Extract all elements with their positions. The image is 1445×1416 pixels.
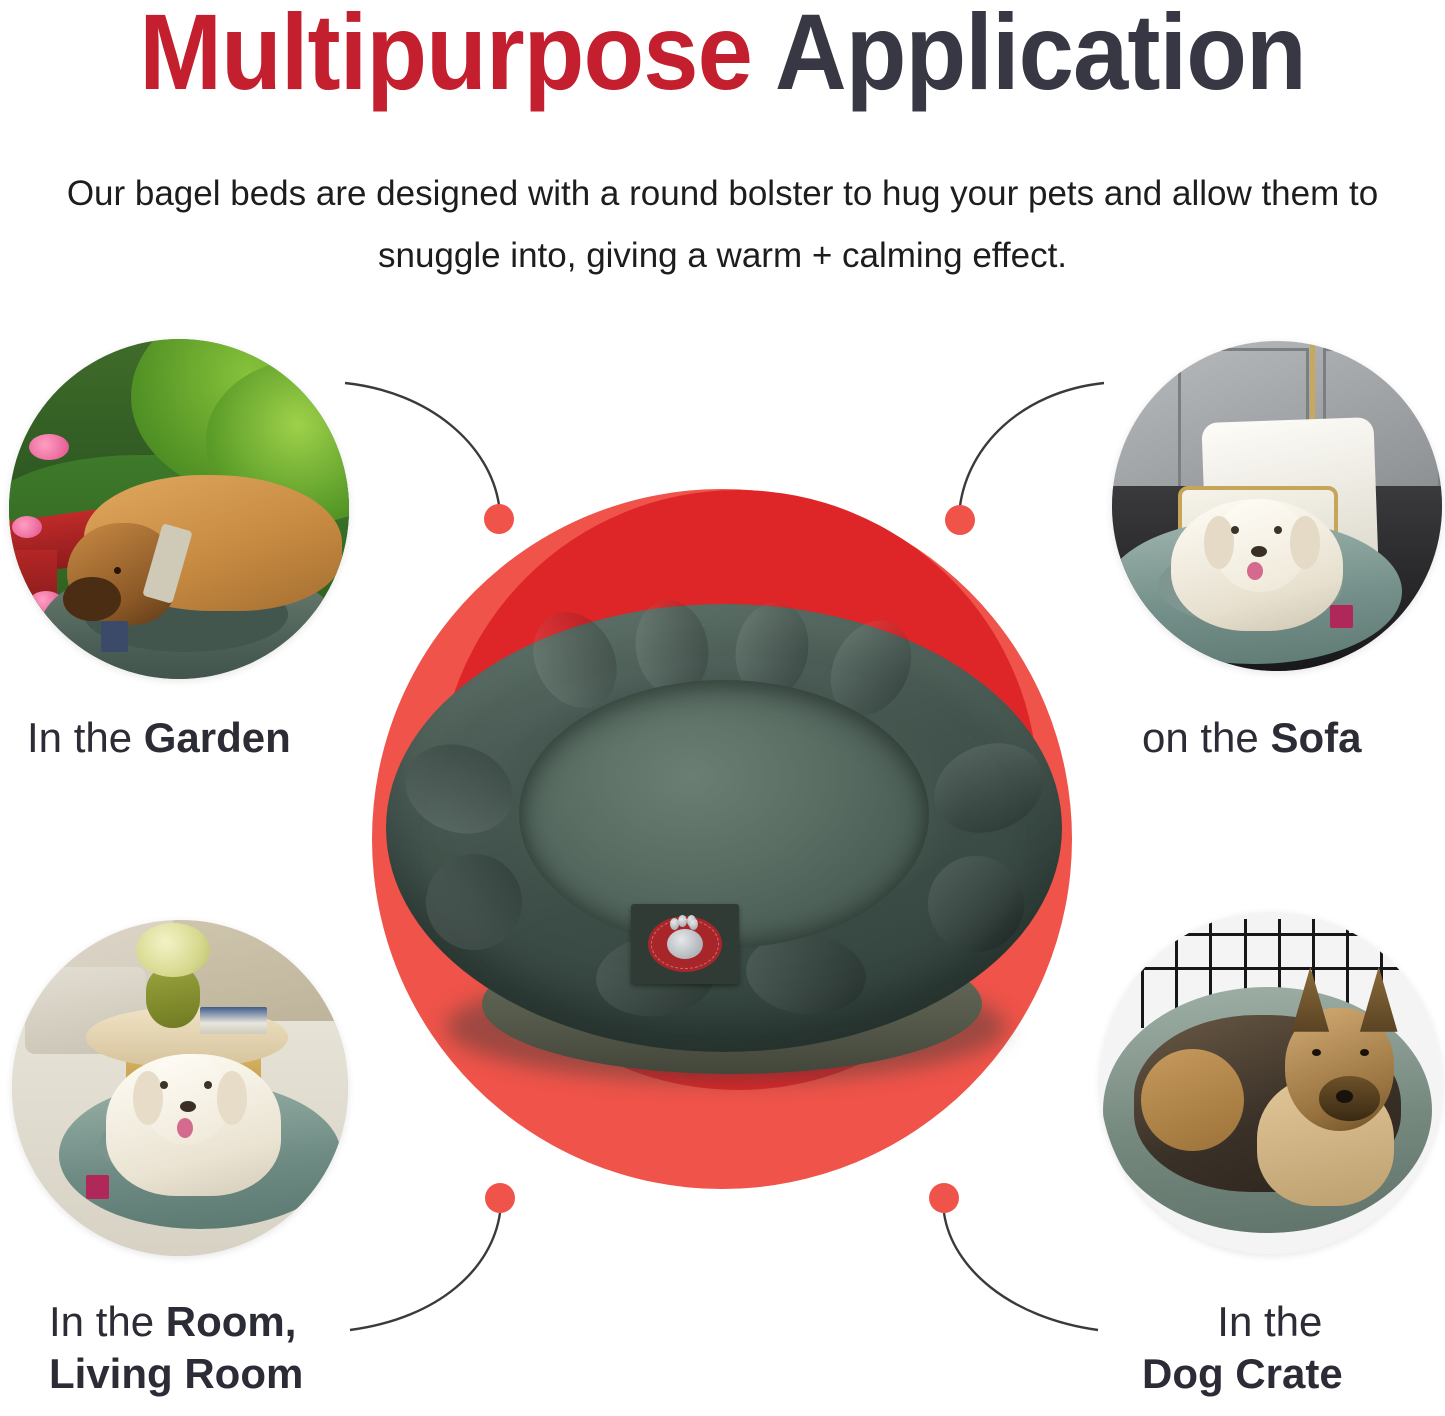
photo-thumbnail-dog-crate[interactable] xyxy=(1100,912,1442,1254)
caption-room-emphasis: Room, xyxy=(166,1298,297,1345)
caption-room-line2: Living Room xyxy=(49,1350,303,1397)
caption-crate-line2: Dog Crate xyxy=(1142,1348,1343,1400)
photo-thumbnail-sofa[interactable] xyxy=(1112,341,1442,671)
caption-dog-crate: In the Dog Crate xyxy=(1197,1296,1343,1400)
caption-garden-prefix: In the xyxy=(27,714,144,761)
photo-thumbnail-living-room[interactable] xyxy=(12,920,348,1256)
caption-sofa-prefix: on the xyxy=(1142,714,1270,761)
caption-sofa: on the Sofa xyxy=(1142,712,1361,764)
infographic-canvas: Multipurpose Application Our bagel beds … xyxy=(0,0,1445,1416)
paw-print-icon xyxy=(667,929,703,959)
caption-crate-prefix: In the xyxy=(1217,1298,1322,1345)
caption-sofa-emphasis: Sofa xyxy=(1270,714,1361,761)
product-image-bagel-bed xyxy=(386,604,1062,1094)
brand-logo-disc xyxy=(648,916,722,972)
caption-garden-emphasis: Garden xyxy=(144,714,291,761)
brand-tag xyxy=(631,904,739,984)
caption-garden: In the Garden xyxy=(27,712,291,764)
photo-thumbnail-garden[interactable] xyxy=(9,339,349,679)
bed-bolster xyxy=(386,604,1062,1052)
caption-living-room: In the Room, Living Room xyxy=(49,1296,303,1400)
caption-room-prefix: In the xyxy=(49,1298,166,1345)
